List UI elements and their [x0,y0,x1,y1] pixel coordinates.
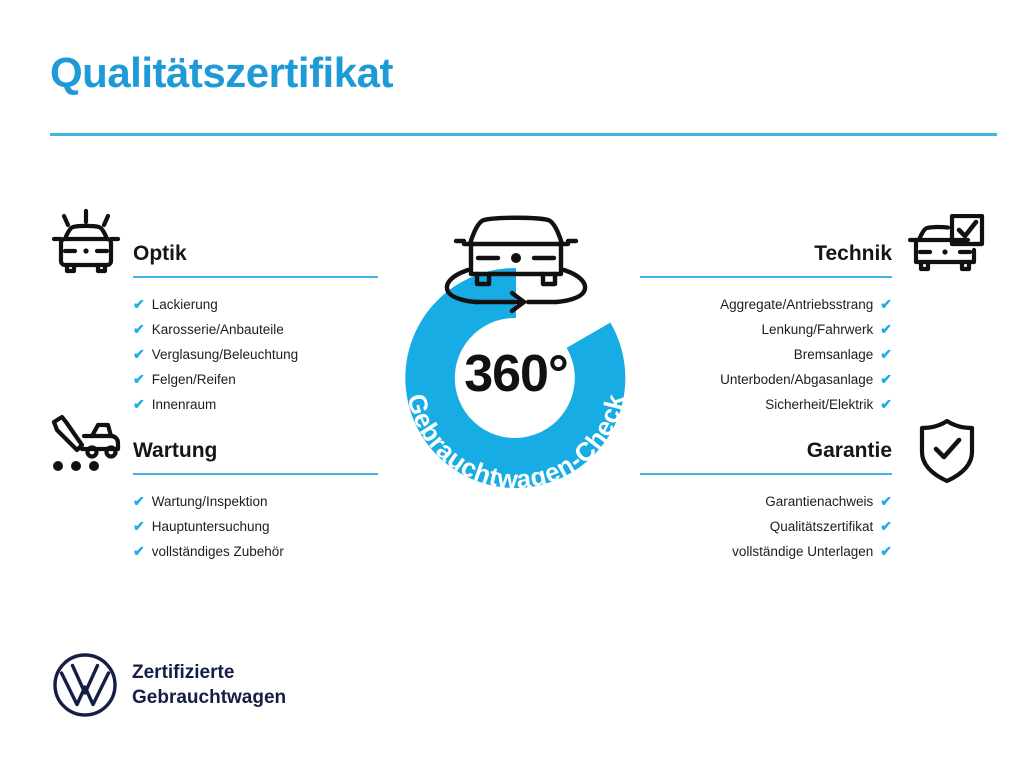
header-divider [50,133,997,136]
list-item: Aggregate/Antriebsstrang ✔ [640,292,892,317]
section-header-garantie: Garantie [640,437,892,475]
section-title: Wartung [133,437,378,465]
section-divider [640,276,892,278]
list-item-label: Verglasung/Beleuchtung [152,343,298,367]
footer-brand-text: Zertifizierte Gebrauchtwagen [132,660,286,710]
list-item-label: vollständiges Zubehör [152,540,284,564]
list-item-label: Lenkung/Fahrwerk [761,318,873,342]
list-item-label: Unterboden/Abgasanlage [720,368,873,392]
checklist-technik: Aggregate/Antriebsstrang ✔ Lenkung/Fahrw… [640,292,892,417]
section-header-wartung: Wartung [133,437,378,475]
car-checkbox-icon [908,214,986,276]
list-item: ✔ Lackierung [133,292,378,317]
360-check-badge: Gebrauchtwagen-Check 360° [372,196,660,506]
list-item: Qualitätszertifikat ✔ [640,514,892,539]
check-icon: ✔ [880,489,892,513]
vw-logo-icon [52,652,118,718]
car-shine-icon [48,206,124,278]
list-item: Bremsanlage ✔ [640,342,892,367]
list-item: ✔ vollständiges Zubehör [133,539,378,564]
list-item: ✔ Verglasung/Beleuchtung [133,342,378,367]
list-item: Unterboden/Abgasanlage ✔ [640,367,892,392]
check-icon: ✔ [133,367,145,391]
list-item-label: Qualitätszertifikat [770,515,874,539]
list-item: ✔ Hauptuntersuchung [133,514,378,539]
list-item-label: Felgen/Reifen [152,368,236,392]
list-item: Garantienachweis ✔ [640,489,892,514]
list-item: ✔ Innenraum [133,392,378,417]
check-icon: ✔ [880,514,892,538]
checklist-wartung: ✔ Wartung/Inspektion ✔ Hauptuntersuchung… [133,489,378,564]
list-item: ✔ Felgen/Reifen [133,367,378,392]
section-divider [133,276,378,278]
section-technik: Technik Aggregate/Antriebsstrang ✔ Lenku… [640,240,892,417]
section-divider [133,473,378,475]
check-icon: ✔ [880,342,892,366]
checklist-optik: ✔ Lackierung ✔ Karosserie/Anbauteile ✔ V… [133,292,378,417]
wrench-car-icon [48,414,124,476]
badge-center-value: 360° [372,344,660,404]
check-icon: ✔ [133,317,145,341]
list-item-label: Sicherheit/Elektrik [765,393,873,417]
section-title: Technik [640,240,892,268]
section-divider [640,473,892,475]
check-icon: ✔ [880,317,892,341]
section-title: Garantie [640,437,892,465]
section-title: Optik [133,240,378,268]
list-item-label: Karosserie/Anbauteile [152,318,284,342]
check-icon: ✔ [880,539,892,563]
footer-brand: Zertifizierte Gebrauchtwagen [52,650,382,722]
list-item-label: vollständige Unterlagen [732,540,873,564]
list-item-label: Aggregate/Antriebsstrang [720,293,873,317]
check-icon: ✔ [133,342,145,366]
check-icon: ✔ [880,392,892,416]
check-icon: ✔ [133,392,145,416]
list-item-label: Bremsanlage [794,343,874,367]
section-optik: Optik ✔ Lackierung ✔ Karosserie/Anbautei… [133,240,378,417]
section-header-optik: Optik [133,240,378,278]
check-icon: ✔ [880,367,892,391]
section-header-technik: Technik [640,240,892,278]
list-item: ✔ Karosserie/Anbauteile [133,317,378,342]
certificate-page: Qualitätszertifikat [0,0,1024,768]
footer-brand-line2: Gebrauchtwagen [132,685,286,710]
check-icon: ✔ [133,292,145,316]
page-title: Qualitätszertifikat [50,50,393,96]
check-icon: ✔ [133,489,145,513]
list-item: Sicherheit/Elektrik ✔ [640,392,892,417]
check-icon: ✔ [133,539,145,563]
list-item-label: Hauptuntersuchung [152,515,270,539]
list-item: ✔ Wartung/Inspektion [133,489,378,514]
list-item-label: Lackierung [152,293,218,317]
section-wartung: Wartung ✔ Wartung/Inspektion ✔ Hauptunte… [133,437,378,564]
list-item-label: Innenraum [152,393,217,417]
list-item-label: Wartung/Inspektion [152,490,268,514]
list-item: Lenkung/Fahrwerk ✔ [640,317,892,342]
list-item-label: Garantienachweis [765,490,873,514]
footer-brand-line1: Zertifizierte [132,660,286,685]
check-icon: ✔ [880,292,892,316]
checklist-garantie: Garantienachweis ✔ Qualitätszertifikat ✔… [640,489,892,564]
section-garantie: Garantie Garantienachweis ✔ Qualitätszer… [640,437,892,564]
check-icon: ✔ [133,514,145,538]
list-item: vollständige Unterlagen ✔ [640,539,892,564]
shield-check-icon [916,418,978,484]
